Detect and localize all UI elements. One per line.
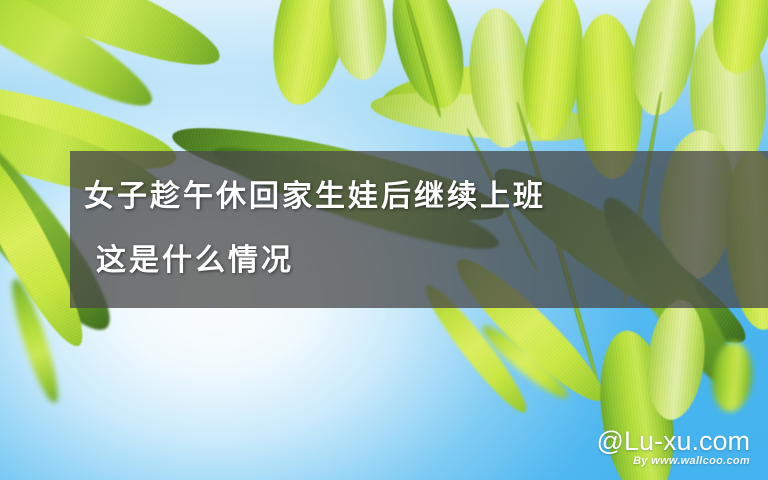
caption-overlay: 女子趁午休回家生娃后继续上班 这是什么情况 — [70, 151, 768, 308]
watermark-credit: By www.wallcoo.com — [597, 454, 750, 468]
watermark: @Lu-xu.com By www.wallcoo.com — [597, 426, 750, 468]
caption-line-2: 这是什么情况 — [84, 229, 768, 293]
caption-line-1: 女子趁午休回家生娃后继续上班 — [84, 165, 768, 229]
watermark-site: @Lu-xu.com — [597, 426, 750, 456]
wallpaper-image: 女子趁午休回家生娃后继续上班 这是什么情况 @Lu-xu.com By www.… — [0, 0, 768, 480]
